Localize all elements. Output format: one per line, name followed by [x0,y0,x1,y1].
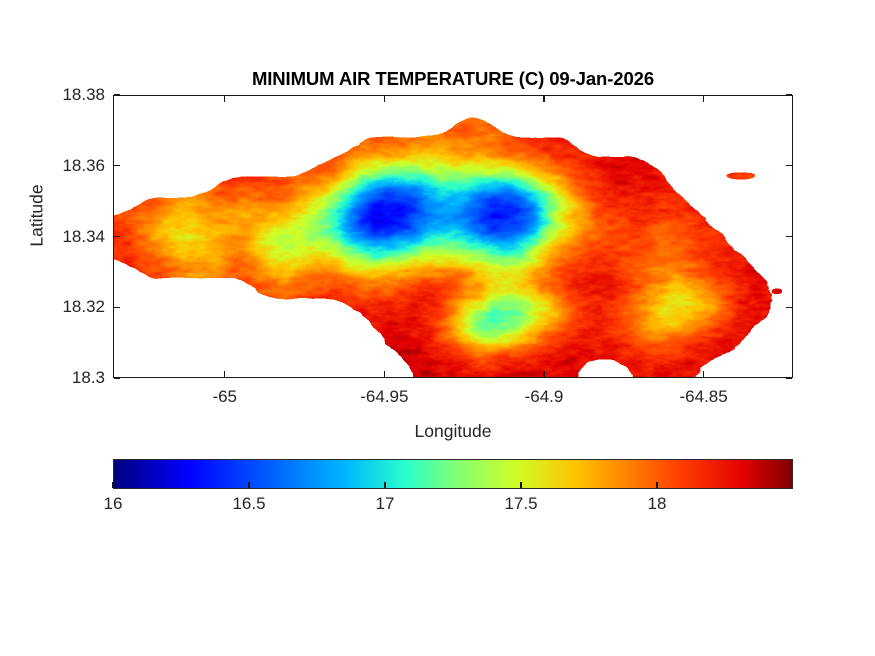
x-tick [224,371,225,377]
colorbar-tick [520,482,521,488]
y-tick [114,94,120,95]
colorbar-tick [384,482,385,488]
y-tick [114,307,120,308]
colorbar-gradient [113,459,793,489]
y-tick [786,236,792,237]
colorbar-tick-label: 16.5 [232,494,265,514]
y-tick [114,236,120,237]
x-tick-label: -64.95 [360,387,408,407]
colorbar-tick [248,482,249,488]
y-tick-label: 18.3 [15,368,105,388]
y-tick [786,165,792,166]
x-tick [703,371,704,377]
colorbar [113,459,793,489]
colorbar-tick-label: 17.5 [504,494,537,514]
y-tick-label: 18.38 [15,85,105,105]
y-axis-label: Latitude [27,136,48,296]
x-tick [543,371,544,377]
x-tick [224,96,225,102]
page-title: MINIMUM AIR TEMPERATURE (C) 09-Jan-2026 [113,68,793,90]
matlab-figure: MINIMUM AIR TEMPERATURE (C) 09-Jan-2026 … [0,0,875,656]
colorbar-tick [112,482,113,488]
y-tick [114,377,120,378]
x-tick-label: -64.85 [680,387,728,407]
x-axis-label: Longitude [113,421,793,442]
y-tick-label: 18.32 [15,297,105,317]
y-tick [786,94,792,95]
y-tick [786,377,792,378]
colorbar-tick [656,482,657,488]
map-axes [113,95,793,378]
x-tick-label: -64.9 [525,387,564,407]
x-tick [543,96,544,102]
y-tick [786,307,792,308]
x-tick [384,96,385,102]
colorbar-tick-label: 17 [376,494,395,514]
y-tick [114,165,120,166]
x-tick-label: -65 [212,387,237,407]
x-tick [703,96,704,102]
colorbar-tick-label: 16 [104,494,123,514]
x-tick [384,371,385,377]
temperature-heatmap [114,96,793,378]
colorbar-tick-label: 18 [648,494,667,514]
